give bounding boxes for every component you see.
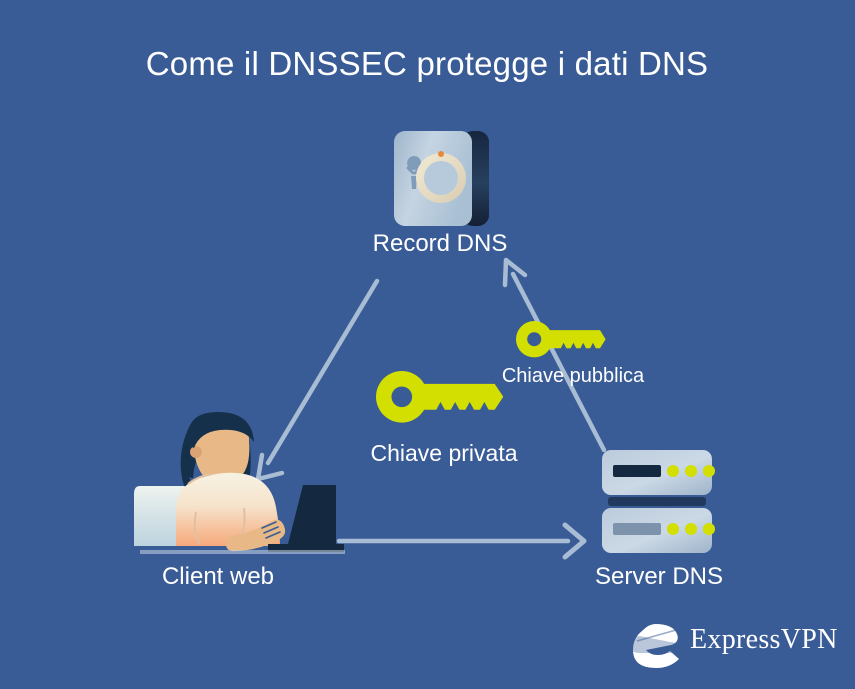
public-key-label: Chiave pubblica <box>502 365 645 387</box>
safe-vault-icon <box>394 131 489 226</box>
node-dns-server[interactable]: Server DNS <box>595 450 723 590</box>
page-title: Come il DNSSEC protegge i dati DNS <box>146 45 709 82</box>
server-rack-icon <box>602 450 715 553</box>
infographic-canvas: Come il DNSSEC protegge i dati DNS <box>0 0 855 689</box>
brand-name: ExpressVPN <box>690 624 838 655</box>
node-label-dns-server: Server DNS <box>595 563 723 590</box>
dnssec-diagram: Come il DNSSEC protegge i dati DNS <box>0 0 855 689</box>
private-key-label: Chiave privata <box>370 440 517 466</box>
node-label-dns-record: Record DNS <box>373 230 508 257</box>
background-rect <box>0 0 855 689</box>
node-label-client-web: Client web <box>162 563 274 590</box>
